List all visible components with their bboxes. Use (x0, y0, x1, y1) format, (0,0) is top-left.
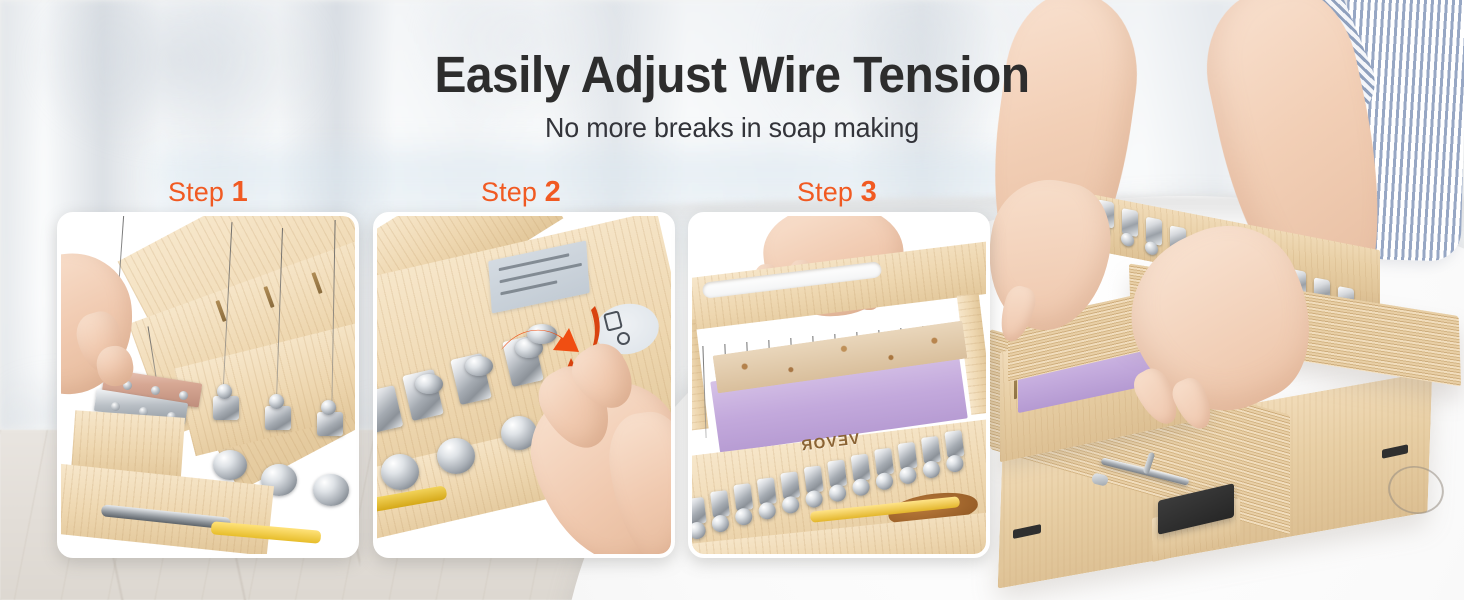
step-label-2: Step 2 (481, 176, 561, 209)
step-label-1-number: 1 (232, 176, 248, 208)
step-card-1-photo (61, 216, 355, 554)
step-label-2-number: 2 (545, 176, 561, 208)
step-label-1-prefix: Step (168, 177, 224, 207)
step-label-3: Step 3 (797, 176, 877, 209)
step-card-3: VEVOR (688, 212, 990, 558)
step-label-1: Step 1 (168, 176, 248, 209)
step-card-2 (373, 212, 675, 558)
step-label-3-number: 3 (861, 176, 877, 208)
step-card-2-photo (377, 216, 671, 554)
page-subtitle: No more breaks in soap making (29, 112, 1434, 144)
step-card-1 (57, 212, 359, 558)
step-label-3-prefix: Step (797, 177, 853, 207)
step-label-2-prefix: Step (481, 177, 537, 207)
step-card-3-photo: VEVOR (692, 216, 986, 554)
page-title: Easily Adjust Wire Tension (44, 45, 1420, 104)
